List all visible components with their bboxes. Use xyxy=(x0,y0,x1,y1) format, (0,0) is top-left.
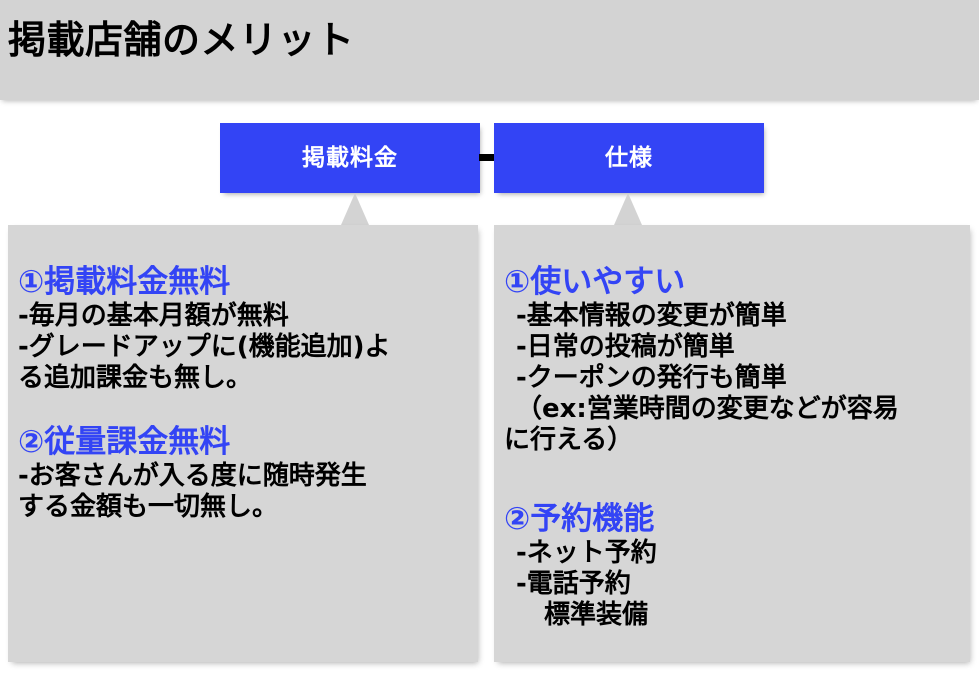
fee-section-1-line-3: る追加課金も無し。 xyxy=(8,363,478,394)
spec-section-2-heading: ②予約機能 xyxy=(494,500,970,538)
title-header-band: 掲載店舗のメリット xyxy=(0,0,979,100)
fee-section-2-line-2: する金額も一切無し。 xyxy=(8,492,478,523)
spec-section-1-line-2: -日常の投稿が簡単 xyxy=(494,332,970,363)
spec-section-1-heading: ①使いやすい xyxy=(494,263,970,301)
category-box-fee-label: 掲載料金 xyxy=(302,147,398,170)
fee-section-2-line-1: -お客さんが入る度に随時発生 xyxy=(8,461,478,492)
spec-section-1-line-1: -基本情報の変更が簡単 xyxy=(494,301,970,332)
spec-section-2: ②予約機能 -ネット予約 -電話予約 標準装備 xyxy=(494,500,970,631)
content-panel-fee: ①掲載料金無料 -毎月の基本月額が無料 -グレードアップに(機能追加)よ る追加… xyxy=(8,225,478,662)
arrow-up-icon-spec xyxy=(614,193,642,225)
spec-section-1-line-4: （ex:営業時間の変更などが容易 xyxy=(494,394,970,425)
fee-section-2: ②従量課金無料 -お客さんが入る度に随時発生 する金額も一切無し。 xyxy=(8,423,478,523)
page-title: 掲載店舗のメリット xyxy=(8,12,355,68)
fee-section-1: ①掲載料金無料 -毎月の基本月額が無料 -グレードアップに(機能追加)よ る追加… xyxy=(8,263,478,394)
spec-section-1: ①使いやすい -基本情報の変更が簡単 -日常の投稿が簡単 -クーポンの発行も簡単… xyxy=(494,263,970,456)
spec-section-2-line-1: -ネット予約 xyxy=(494,538,970,569)
fee-section-1-line-2: -グレードアップに(機能追加)よ xyxy=(8,332,478,363)
spec-section-2-line-2: -電話予約 xyxy=(494,569,970,600)
arrow-up-icon-fee xyxy=(341,193,369,225)
fee-section-2-heading: ②従量課金無料 xyxy=(8,423,478,461)
fee-section-1-line-1: -毎月の基本月額が無料 xyxy=(8,301,478,332)
spec-section-2-line-3: 標準装備 xyxy=(494,600,970,631)
spec-section-1-line-3: -クーポンの発行も簡単 xyxy=(494,363,970,394)
spec-section-1-line-5: に行える） xyxy=(494,425,970,456)
category-box-spec-label: 仕様 xyxy=(605,147,653,170)
category-box-fee[interactable]: 掲載料金 xyxy=(220,123,480,193)
category-box-spec[interactable]: 仕様 xyxy=(494,123,764,193)
fee-section-1-heading: ①掲載料金無料 xyxy=(8,263,478,301)
content-panel-spec: ①使いやすい -基本情報の変更が簡単 -日常の投稿が簡単 -クーポンの発行も簡単… xyxy=(494,225,970,662)
